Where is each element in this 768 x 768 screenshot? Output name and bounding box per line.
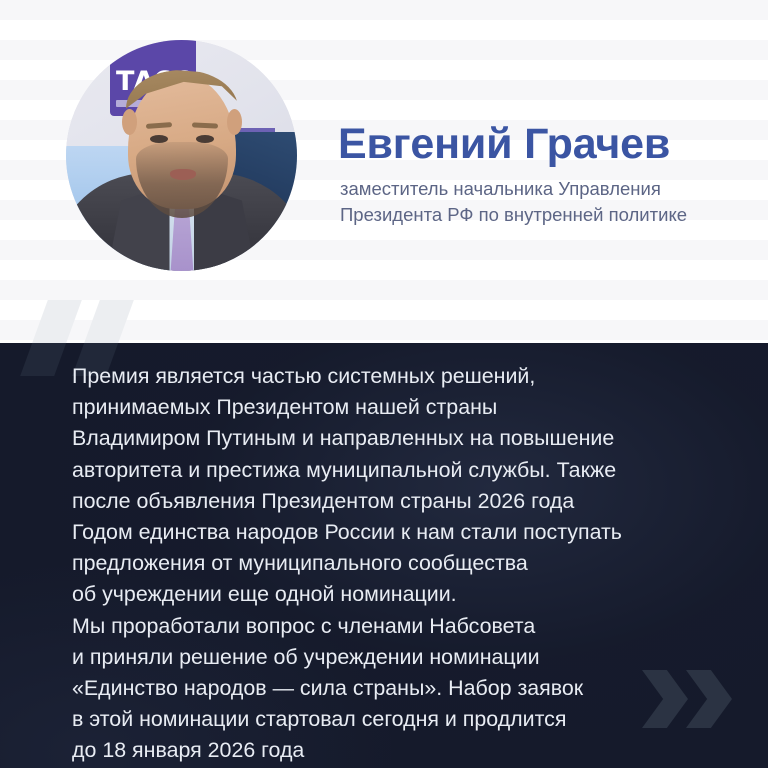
quote-card: ТАСС Евгени <box>0 0 768 768</box>
speaker-photo: ТАСС <box>66 40 297 271</box>
portrait-ear-left <box>122 109 137 135</box>
portrait-eye-left <box>150 135 168 143</box>
header-striped-background: ТАСС Евгени <box>0 0 768 343</box>
speaker-name: Евгений Грачев <box>338 122 670 167</box>
portrait-eye-right <box>196 135 214 143</box>
portrait-ear-right <box>227 109 242 135</box>
portrait-illustration: ТАСС <box>66 40 297 271</box>
speaker-role: заместитель начальника Управления Презид… <box>340 176 752 229</box>
quote-text: Премия является частью системных решений… <box>72 361 732 767</box>
